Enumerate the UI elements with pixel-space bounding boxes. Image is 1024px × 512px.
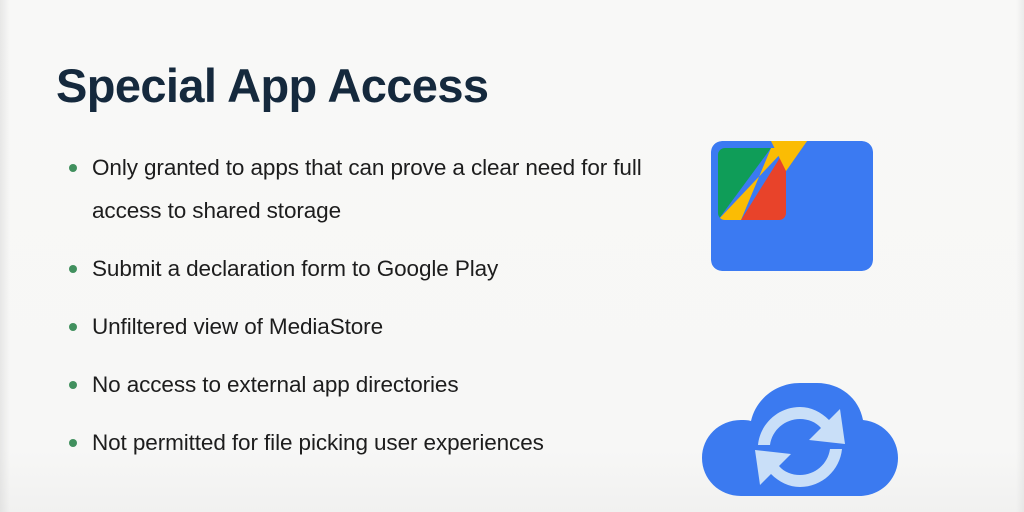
cloud-sync-icon — [701, 377, 899, 512]
files-app-icon — [711, 141, 873, 271]
list-item-label: Only granted to apps that can prove a cl… — [92, 146, 666, 232]
bullet-dot-icon — [69, 439, 77, 447]
list-item-label: Submit a declaration form to Google Play — [92, 247, 666, 290]
page-title: Special App Access — [56, 58, 488, 114]
slide-canvas: Special App Access Only granted to apps … — [0, 0, 1024, 512]
bullet-dot-icon — [69, 323, 77, 331]
list-item-label: No access to external app directories — [92, 363, 666, 406]
list-item: Submit a declaration form to Google Play — [66, 247, 666, 290]
list-item-label: Unfiltered view of MediaStore — [92, 305, 666, 348]
bullet-dot-icon — [69, 381, 77, 389]
list-item: No access to external app directories — [66, 363, 666, 406]
list-item: Only granted to apps that can prove a cl… — [66, 146, 666, 232]
list-item: Unfiltered view of MediaStore — [66, 305, 666, 348]
list-item-label: Not permitted for file picking user expe… — [92, 421, 666, 464]
bullet-dot-icon — [69, 164, 77, 172]
bullet-dot-icon — [69, 265, 77, 273]
list-item: Not permitted for file picking user expe… — [66, 421, 666, 464]
bullet-list: Only granted to apps that can prove a cl… — [66, 146, 666, 464]
